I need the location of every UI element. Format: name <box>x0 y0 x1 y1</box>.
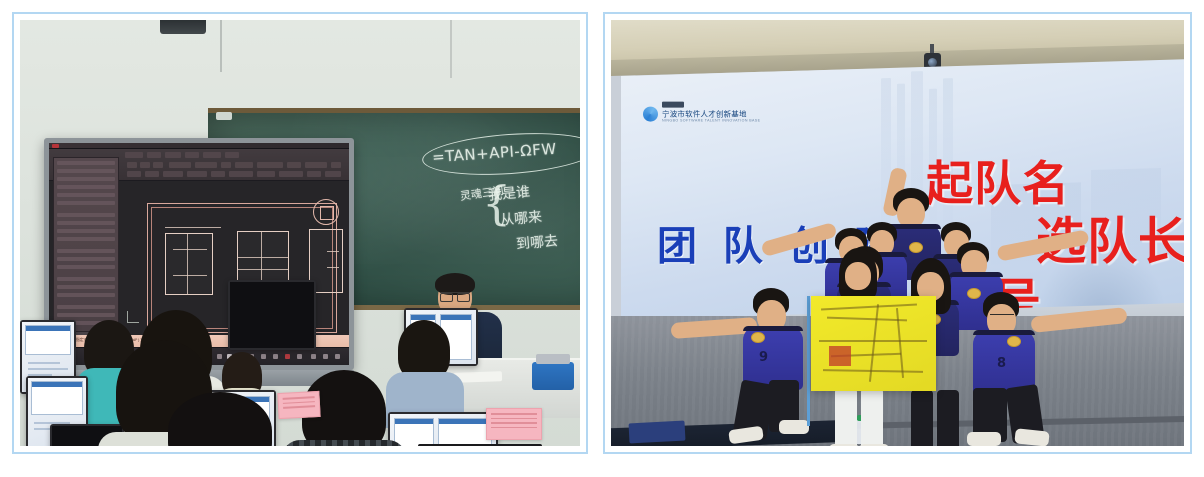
team-flag <box>811 296 936 391</box>
photo-collage: =TAN+API-ΩFW { 灵魂三问 我是谁 从哪来 到哪去 <box>0 0 1204 477</box>
chalk-question-3: 到哪去 <box>515 230 559 254</box>
laptop-front-right[interactable] <box>388 412 498 446</box>
pink-note-2 <box>486 408 542 440</box>
left-photo-frame[interactable]: =TAN+API-ΩFW { 灵魂三问 我是谁 从哪来 到哪去 <box>12 12 588 454</box>
organization-logo: 宁波市软件人才创新基地 NINGBO SOFTWARE TALENT INNOV… <box>643 102 763 128</box>
ceiling-rod <box>220 20 222 72</box>
cad-ribbon-buttons-row2 <box>125 171 345 179</box>
cad-ribbon-tabs <box>125 152 345 160</box>
monitor-back-center[interactable] <box>228 280 316 350</box>
chalk-eraser-icon <box>216 112 232 120</box>
logo-badge <box>662 102 684 108</box>
cad-classroom-photo: =TAN+API-ΩFW { 灵魂三问 我是谁 从哪来 到哪去 <box>20 20 580 446</box>
globe-icon <box>643 107 658 122</box>
chalk-question-1: 我是谁 <box>487 181 531 205</box>
jersey-number-9: 9 <box>759 350 768 365</box>
ceiling-rod-secondary <box>450 20 452 78</box>
flag-pole <box>807 296 810 426</box>
cad-view-left <box>165 233 213 295</box>
projector-icon <box>160 20 206 34</box>
cad-ucs-icon <box>127 311 139 323</box>
flag-stamp <box>829 346 851 366</box>
team-building-stage-photo: 宁波市软件人才创新基地 NINGBO SOFTWARE TALENT INNOV… <box>611 20 1184 446</box>
pink-note-1 <box>277 391 320 419</box>
chalk-question-2: 从哪来 <box>499 206 543 230</box>
cad-properties-palette[interactable] <box>53 157 119 332</box>
jersey-number-8: 8 <box>997 356 1006 371</box>
cad-detail-balloon <box>313 199 339 225</box>
keyboard[interactable] <box>418 444 542 446</box>
teacher-glasses-icon <box>440 292 470 299</box>
foreground-blue-object <box>629 421 686 444</box>
organization-name-en: NINGBO SOFTWARE TALENT INNOVATION BASE <box>662 119 760 123</box>
cad-ribbon-buttons-row1 <box>125 162 345 170</box>
right-photo-frame[interactable]: 宁波市软件人才创新基地 NINGBO SOFTWARE TALENT INNOV… <box>603 12 1192 454</box>
gearbox-model-icon <box>532 362 574 390</box>
